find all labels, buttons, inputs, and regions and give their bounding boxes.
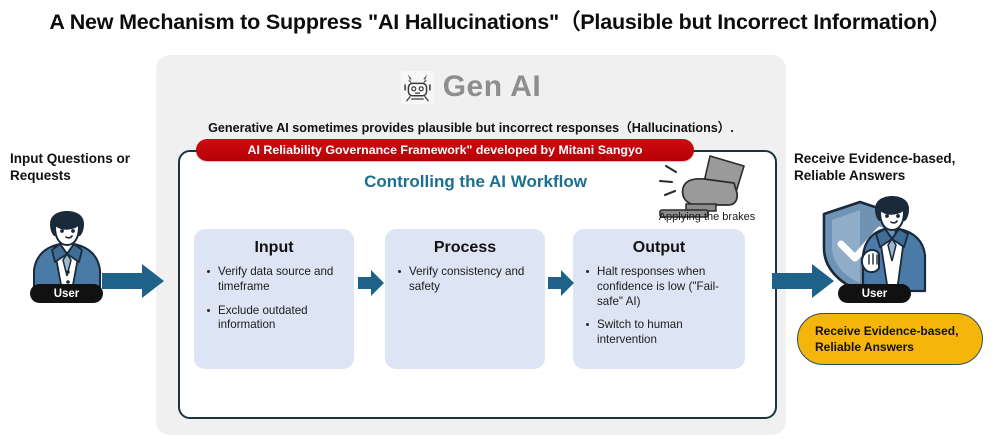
step-card-process[interactable]: Process Verify consistency and safety — [385, 229, 545, 369]
arrow-user-to-genai-icon — [102, 262, 164, 300]
answer-callout-text: Receive Evidence-based, Reliable Answers — [815, 323, 982, 355]
right-caption: Receive Evidence-based, Reliable Answers — [794, 150, 994, 185]
business-person-icon — [22, 210, 112, 295]
step-heading-process: Process — [397, 239, 533, 257]
left-caption: Input Questions or Requests — [10, 150, 160, 185]
step-bullets-output: Halt responses when confidence is low ("… — [585, 265, 733, 348]
arrow-process-to-output-icon — [548, 268, 574, 298]
list-item: Switch to human intervention — [585, 318, 733, 348]
framework-ribbon: AI Reliability Governance Framework" dev… — [196, 139, 694, 161]
arrow-genai-to-user-icon — [772, 262, 834, 300]
list-item: Verify consistency and safety — [397, 265, 533, 295]
step-card-output[interactable]: Output Halt responses when confidence is… — [573, 229, 745, 369]
step-heading-output: Output — [585, 239, 733, 257]
step-card-input[interactable]: Input Verify data source and timeframe E… — [194, 229, 354, 369]
step-bullets-process: Verify consistency and safety — [397, 265, 533, 295]
step-bullets-input: Verify data source and timeframe Exclude… — [206, 265, 342, 333]
diagram-canvas: A New Mechanism to Suppress "AI Hallucin… — [0, 0, 1000, 444]
list-item: Verify data source and timeframe — [206, 265, 342, 295]
right-user-badge: User — [838, 284, 911, 303]
hallucination-caption: Generative AI sometimes provides plausib… — [156, 117, 786, 136]
arrow-input-to-process-icon — [358, 268, 384, 298]
step-heading-input: Input — [206, 239, 342, 257]
page-title: A New Mechanism to Suppress "AI Hallucin… — [0, 5, 1000, 36]
robot-icon — [401, 71, 434, 104]
gen-ai-label: Gen AI — [443, 70, 542, 104]
gen-ai-header: Gen AI — [156, 62, 786, 112]
list-item: Halt responses when confidence is low ("… — [585, 265, 733, 309]
shield-check-person-icon — [816, 192, 941, 297]
brake-caption: Applying the brakes — [642, 211, 772, 223]
answer-callout: Receive Evidence-based, Reliable Answers — [797, 313, 983, 365]
list-item: Exclude outdated information — [206, 304, 342, 334]
left-user-badge: User — [30, 284, 103, 303]
